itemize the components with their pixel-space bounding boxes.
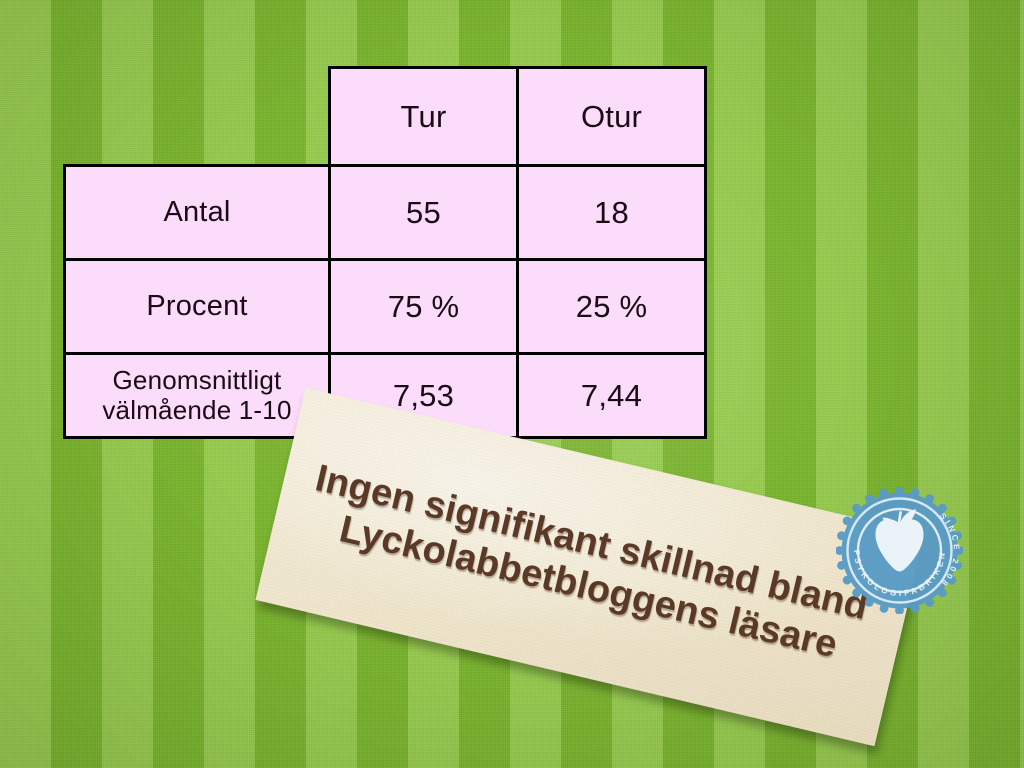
cell-procent-tur: 75 %	[330, 260, 518, 354]
table-row: Antal 55 18	[65, 166, 706, 260]
column-header-otur: Otur	[518, 68, 706, 166]
row-label-line1: Genomsnittligt	[113, 365, 282, 395]
psykologifabriken-apple-stamp-icon: PSYKOLOGIFABRIKEN SINCE 2008	[836, 487, 963, 614]
row-label-line2: välmående 1-10	[102, 395, 291, 425]
cell-procent-otur: 25 %	[518, 260, 706, 354]
table-header-row: Tur Otur	[65, 68, 706, 166]
cell-antal-tur: 55	[330, 166, 518, 260]
table-corner-blank	[65, 68, 330, 166]
slide-canvas: Tur Otur Antal 55 18 Procent 75 % 25 % G…	[0, 0, 1024, 768]
table-row: Procent 75 % 25 %	[65, 260, 706, 354]
row-label-procent: Procent	[65, 260, 330, 354]
row-label-genomsnittligt-valmaende: Genomsnittligt välmående 1-10	[65, 354, 330, 438]
row-label-antal: Antal	[65, 166, 330, 260]
column-header-tur: Tur	[330, 68, 518, 166]
cell-valmaende-otur: 7,44	[518, 354, 706, 438]
tur-otur-statistics-table: Tur Otur Antal 55 18 Procent 75 % 25 % G…	[63, 66, 707, 439]
cell-antal-otur: 18	[518, 166, 706, 260]
